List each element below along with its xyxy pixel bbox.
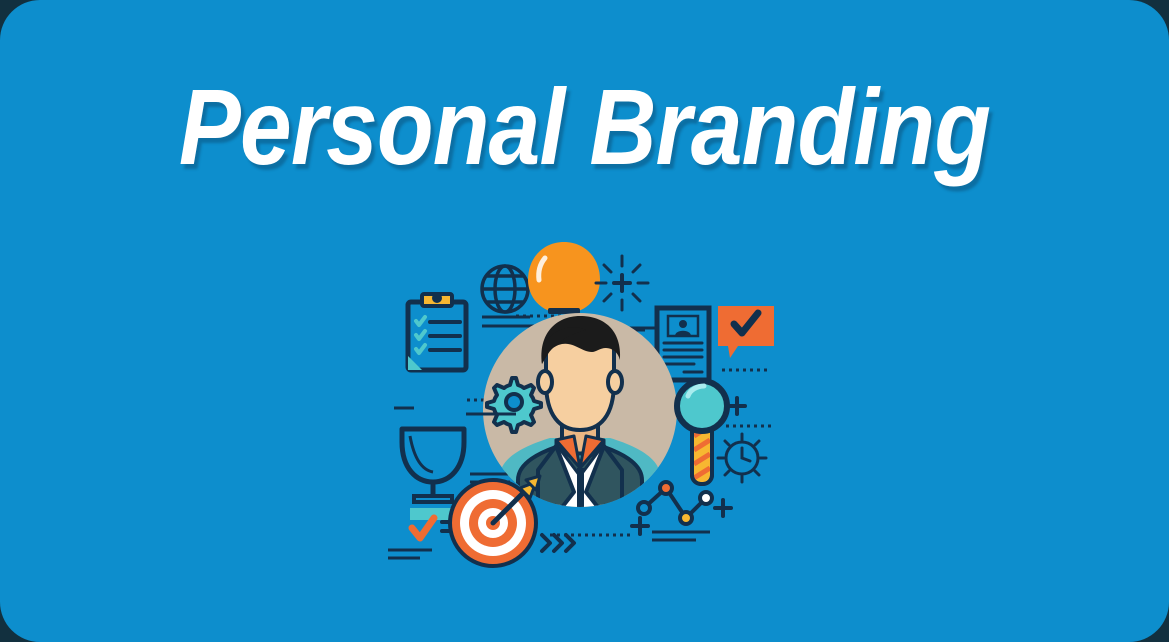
line-chart-icon xyxy=(638,482,712,524)
magnifier-icon xyxy=(677,381,727,484)
clock-icon xyxy=(718,434,766,482)
sparkle-plus-icon xyxy=(596,256,648,310)
personal-branding-illustration xyxy=(370,230,790,570)
page-title: Personal Branding xyxy=(82,70,1087,183)
slide-card: Personal Branding xyxy=(0,0,1169,642)
target-arrow-icon xyxy=(450,476,540,566)
globe-icon xyxy=(482,266,528,312)
speech-bubble-check-icon xyxy=(718,306,774,358)
chevrons-icon xyxy=(542,535,574,551)
gear-icon xyxy=(487,378,541,432)
